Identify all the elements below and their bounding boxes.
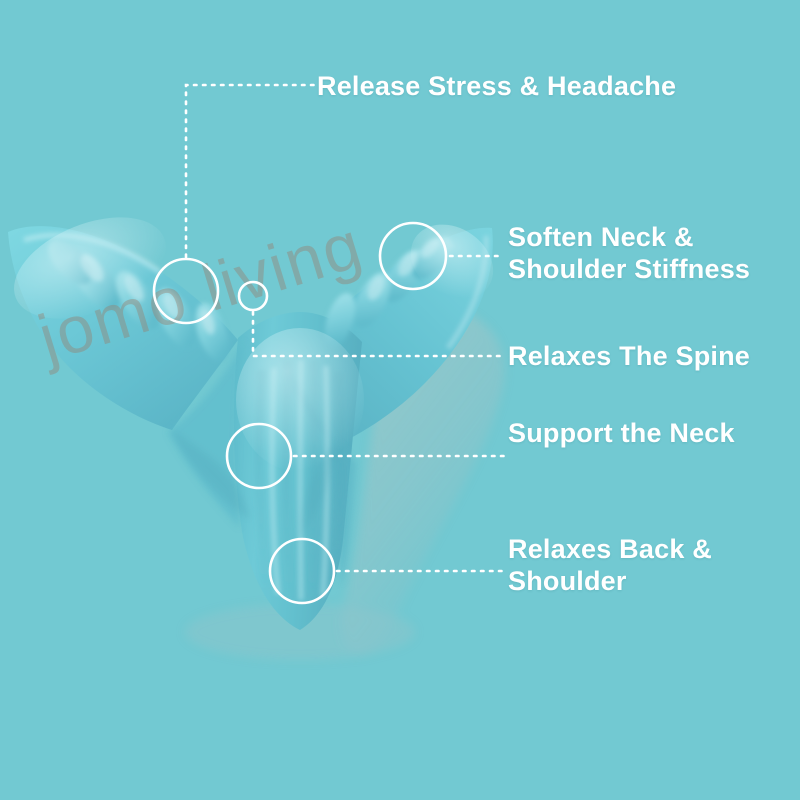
callout-label-soften-neck: Soften Neck & Shoulder Stiffness [508, 222, 750, 286]
callout-label-support-neck: Support the Neck [508, 418, 735, 450]
callout-label-release-stress: Release Stress & Headache [317, 71, 676, 103]
callout-leader-relaxes-spine [253, 312, 504, 356]
callout-label-relaxes-spine: Relaxes The Spine [508, 341, 750, 373]
callout-marker-relaxes-back [270, 539, 334, 603]
callout-marker-support-neck [227, 424, 291, 488]
callout-label-relaxes-back: Relaxes Back & Shoulder [508, 534, 712, 598]
product-image [0, 0, 800, 800]
infographic-canvas: jomo living Release Stress & Headache So… [0, 0, 800, 800]
callout-overlay [0, 0, 800, 800]
callout-marker-soften-neck [380, 223, 446, 289]
watermark-text: jomo living [30, 206, 371, 376]
